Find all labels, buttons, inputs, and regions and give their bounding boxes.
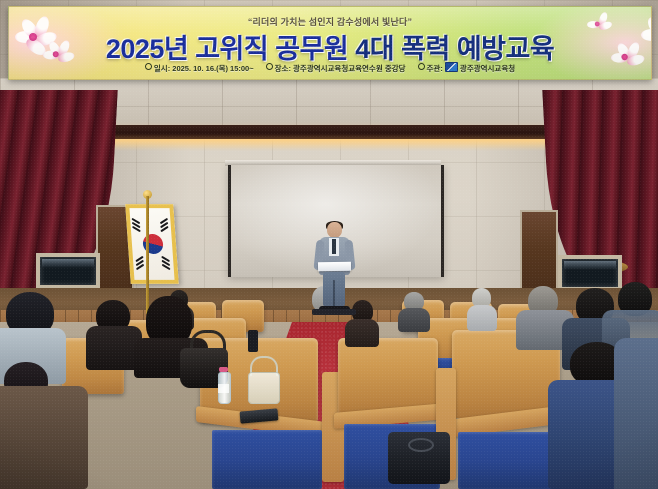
banner-title-main: 2025년 고위직 공무원 [106, 34, 348, 64]
bullet-ring-icon [145, 63, 152, 70]
wall-panel-right [558, 255, 622, 291]
auditorium-photo: “리더의 가치는 섬인지 감수성에서 빛난다” 2025년 고위직 공무원 4대… [0, 0, 658, 489]
banner-info-date: 일시: 2025. 10. 16.(목) 15:00~ [145, 63, 254, 74]
presenter-papers [318, 262, 351, 272]
presenter-head [327, 222, 342, 238]
snack-pouch [248, 372, 280, 404]
bullet-ring-icon [266, 63, 273, 70]
side-door-right [520, 210, 558, 298]
education-office-logo-icon [445, 62, 458, 72]
banner-title: 2025년 고위직 공무원 4대 폭력 예방교육 [9, 27, 651, 66]
seat-cushion [212, 430, 322, 489]
banner-info-place: 장소: 광주광역시교육청교육연수원 중강당 [266, 63, 406, 74]
flagpole [146, 196, 149, 314]
bottle-cap [219, 367, 228, 372]
presenter-on-stage [314, 222, 354, 312]
event-banner: “리더의 가치는 섬인지 감수성에서 빛난다” 2025년 고위직 공무원 4대… [8, 6, 652, 80]
korean-flag-icon [125, 204, 179, 284]
flag-gold-fringe [125, 204, 179, 284]
presenter-tie [332, 239, 336, 254]
banner-info-line: 일시: 2025. 10. 16.(목) 15:00~ 장소: 광주광역시교육청… [9, 62, 651, 74]
stage-floor-mat [312, 309, 356, 315]
wall-panel-left [36, 253, 100, 289]
banner-title-accent: 4대 폭력 예방교육 [355, 34, 554, 64]
bullet-ring-icon [418, 63, 425, 70]
banner-info-host: 주관: 광주광역시교육청 [418, 62, 516, 74]
